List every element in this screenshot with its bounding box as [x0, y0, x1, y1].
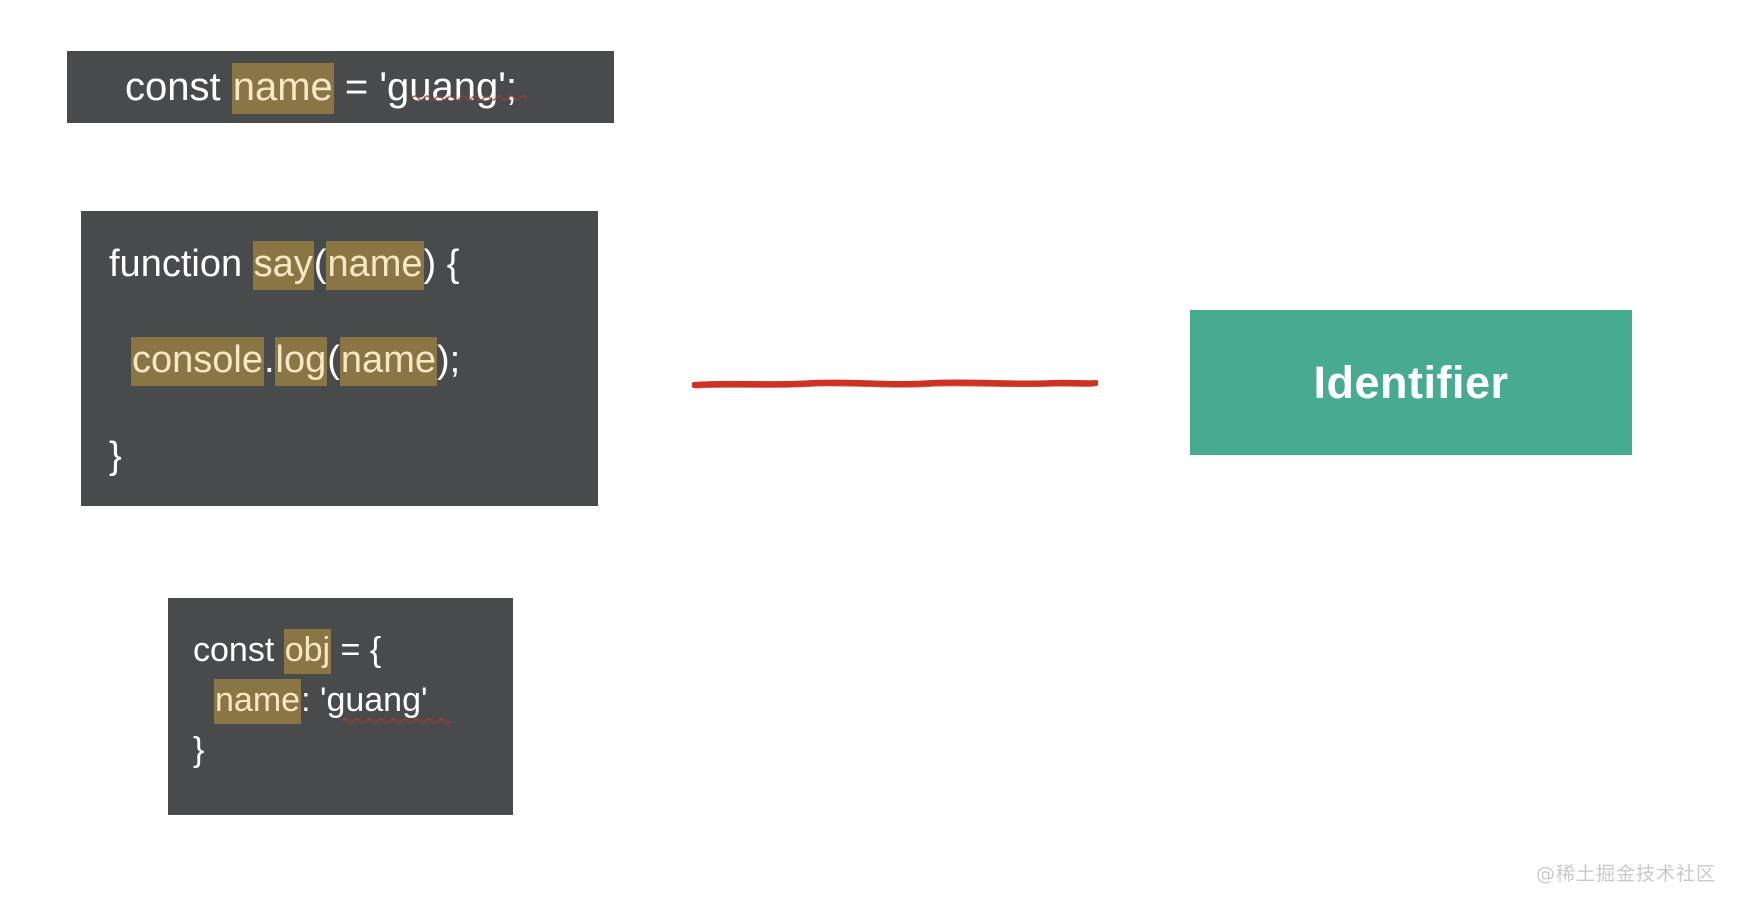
code-token: function — [109, 243, 253, 285]
highlighted-token: say — [253, 241, 314, 290]
code-token: . — [264, 339, 275, 381]
highlighted-token: name — [214, 679, 301, 724]
identifier-label-box: Identifier — [1190, 310, 1632, 455]
code-token: = 'guang'; — [334, 65, 517, 109]
code-line: const obj = { — [193, 633, 381, 667]
code-token: = { — [331, 631, 381, 669]
watermark: @稀土掘金技术社区 — [1536, 859, 1716, 886]
code-token: const — [125, 65, 232, 109]
code-token: ); — [437, 339, 460, 381]
slide-canvas: const name = 'guang'; function say(name)… — [0, 0, 1738, 910]
red-underline-annotation — [692, 372, 1098, 394]
code-line: const name = 'guang'; — [125, 67, 517, 107]
code-line: } — [109, 437, 122, 475]
highlighted-token: obj — [284, 629, 331, 674]
code-line: name: 'guang' — [214, 683, 427, 717]
code-block-const-obj: const obj = { name: 'guang' } — [168, 598, 513, 815]
code-token: const — [193, 631, 284, 669]
code-token: } — [109, 435, 122, 477]
highlighted-token: name — [326, 241, 423, 290]
code-token: ( — [327, 339, 340, 381]
highlighted-token: log — [275, 337, 328, 386]
code-token: : 'guang' — [301, 681, 427, 719]
code-token: } — [193, 731, 204, 769]
code-line: } — [193, 733, 204, 767]
highlighted-token: name — [232, 63, 334, 114]
code-line: console.log(name); — [131, 341, 460, 379]
identifier-label-text: Identifier — [1313, 357, 1508, 409]
code-line: function say(name) { — [109, 245, 459, 283]
code-block-const-name: const name = 'guang'; — [67, 51, 614, 123]
highlighted-token: console — [131, 337, 264, 386]
code-token: ( — [314, 243, 327, 285]
code-block-function-say: function say(name) { console.log(name); … — [81, 211, 598, 506]
highlighted-token: name — [340, 337, 437, 386]
code-token: ) { — [424, 243, 460, 285]
